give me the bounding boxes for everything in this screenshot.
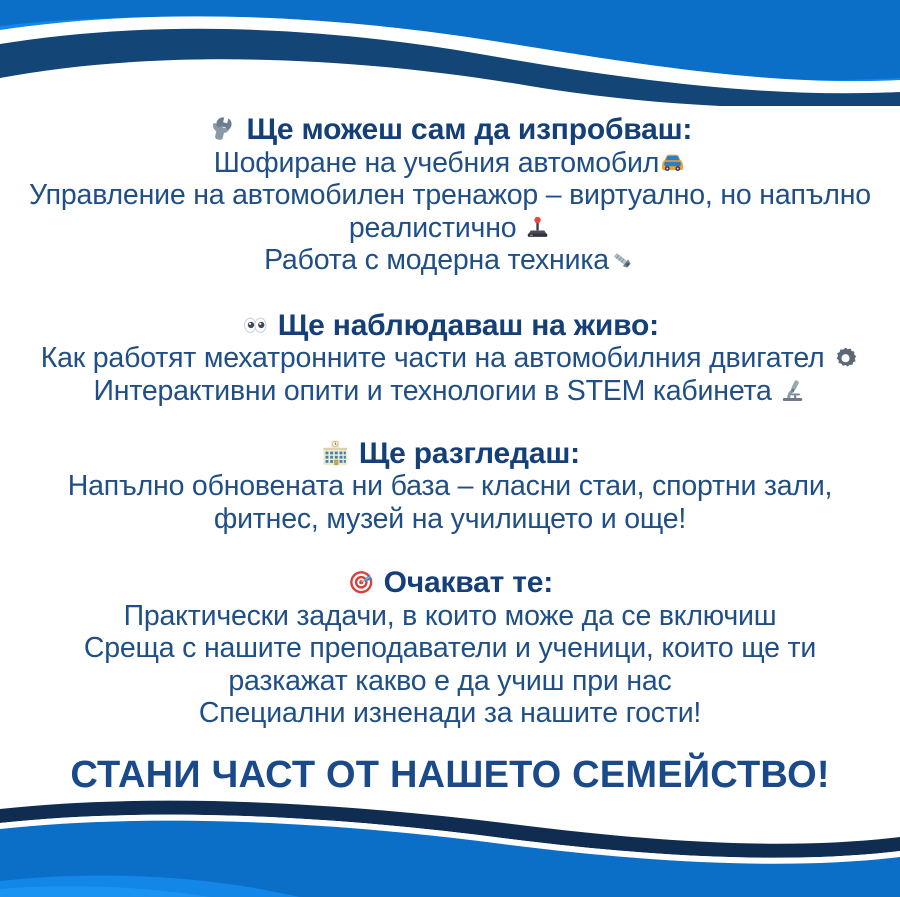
microscope-icon	[779, 377, 806, 404]
eyes-icon	[241, 311, 270, 340]
section-try-it-yourself: Ще можеш сам да изпробваш: Шофиране на у…	[6, 113, 894, 277]
poster-root: Ще можеш сам да изпробваш: Шофиране на у…	[0, 0, 900, 897]
section-line: разкажат какво е да учиш при нас	[6, 665, 894, 697]
section-line: реалистично	[6, 212, 894, 244]
section-line: Интерактивни опити и технологии в STEM к…	[6, 375, 894, 407]
section-watch-live: Ще наблюдаваш на живо: Как работят мехат…	[6, 309, 894, 408]
wrench-icon	[208, 114, 239, 145]
section-line-text: Шофиране на учебния автомобил	[214, 147, 659, 179]
joystick-icon	[524, 214, 551, 241]
gear-icon	[832, 345, 859, 372]
section-line: Напълно обновената ни база – класни стаи…	[6, 470, 894, 502]
section-heading-text: Очакват те:	[384, 566, 553, 599]
section-line: Как работят мехатронните части на автомо…	[6, 342, 894, 374]
section-heading-text: Ще разгледаш:	[359, 437, 580, 470]
section-line: Практически задачи, в които може да се в…	[6, 600, 894, 632]
section-heading: Ще разгледаш:	[6, 437, 894, 471]
section-heading: Очакват те:	[6, 566, 894, 600]
decorative-wave-banner-bottom	[0, 793, 900, 897]
section-heading: Ще можеш сам да изпробваш:	[6, 113, 894, 147]
poster-content: Ще можеш сам да изпробваш: Шофиране на у…	[0, 106, 900, 797]
section-heading-text: Ще можеш сам да изпробваш:	[247, 113, 693, 146]
section-line-text: Интерактивни опити и технологии в STEM к…	[94, 375, 780, 407]
call-to-action-text: СТАНИ ЧАСТ ОТ НАШЕТО СЕМЕЙСТВО!	[6, 754, 894, 797]
section-line: Работа с модерна техника	[6, 244, 894, 276]
car-icon	[659, 149, 686, 176]
nut-and-bolt-icon	[609, 247, 636, 274]
section-line-text: реалистично	[349, 212, 524, 244]
section-line: фитнес, музей на училището и още!	[6, 503, 894, 535]
section-awaits-you: Очакват те: Практически задачи, в които …	[6, 566, 894, 730]
section-tour: Ще разгледаш: Напълно обновената ни база…	[6, 437, 894, 536]
section-heading-text: Ще наблюдаваш на живо:	[278, 309, 659, 342]
section-line: Шофиране на учебния автомобил	[6, 147, 894, 179]
section-line: Среща с нашите преподаватели и ученици, …	[6, 632, 894, 664]
dart-target-icon	[347, 568, 376, 597]
section-line-text: Как работят мехатронните части на автомо…	[41, 342, 832, 374]
section-heading: Ще наблюдаваш на живо:	[6, 309, 894, 343]
section-line: Специални изненади за нашите гости!	[6, 697, 894, 729]
decorative-wave-banner-top	[0, 0, 900, 106]
section-line: Управление на автомобилен тренажор – вир…	[6, 179, 894, 211]
section-line-text: Работа с модерна техника	[264, 244, 609, 276]
school-building-icon	[320, 438, 351, 469]
